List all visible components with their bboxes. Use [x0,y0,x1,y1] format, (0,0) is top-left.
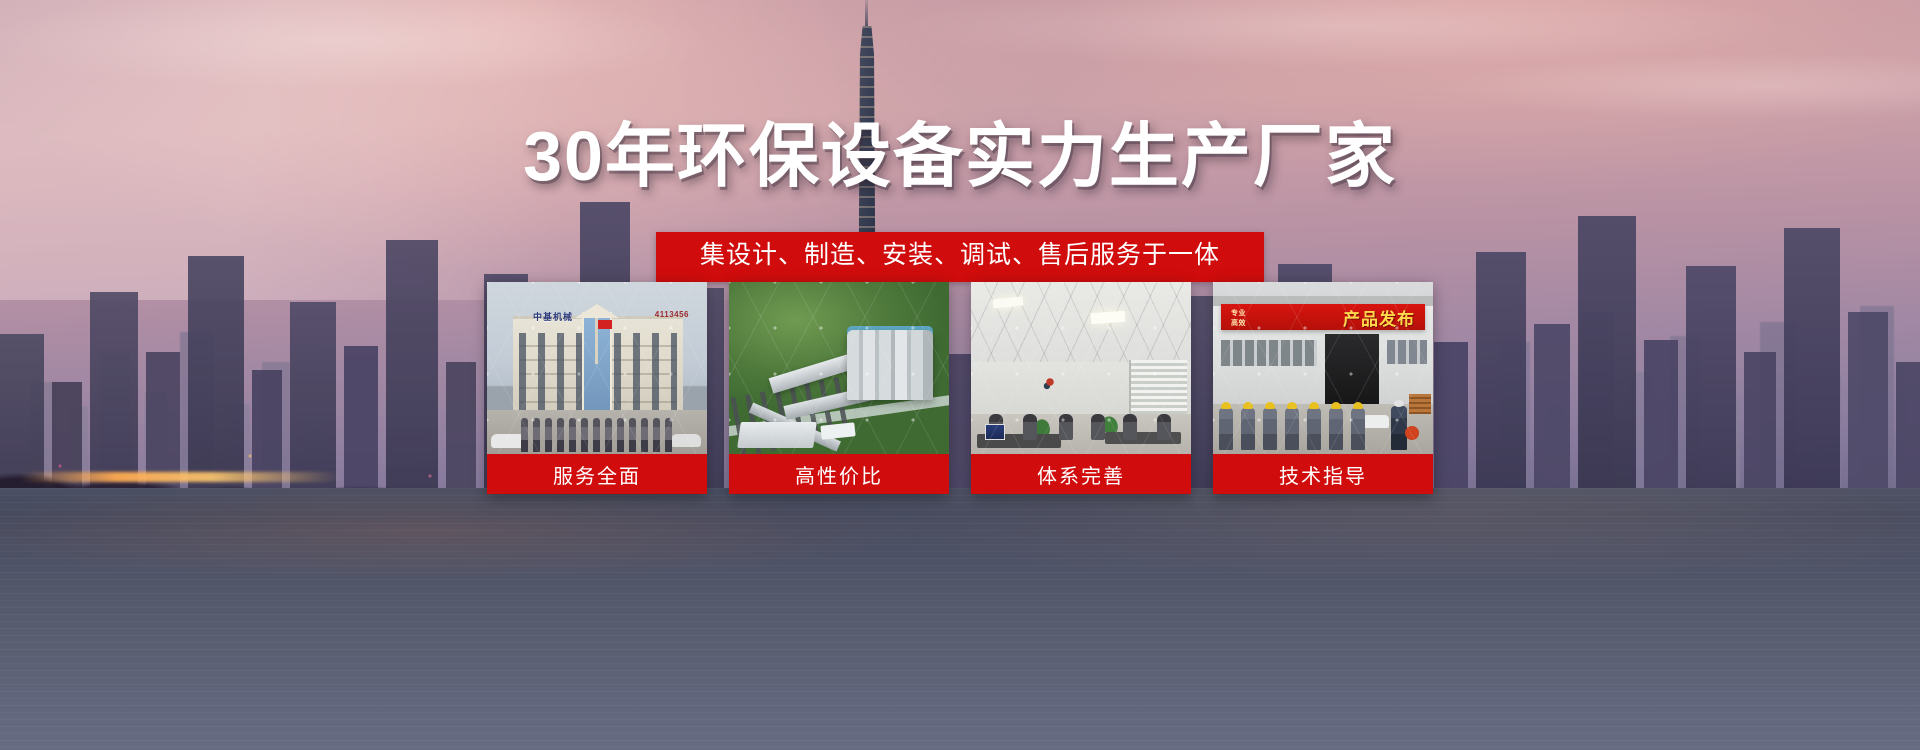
feature-card-system[interactable]: 体系完善 [971,282,1191,494]
feature-card-guidance[interactable]: 专业 高效 产品发布 [1213,282,1433,494]
card-caption-service: 服务全面 [487,454,707,494]
building-phone-label: 4113456 [655,310,689,319]
subtitle-wrapper: 集设计、制造、安装、调试、售后服务于一体 [0,232,1920,282]
page-title: 30年环保设备实力生产厂家 [0,100,1920,201]
feature-card-service[interactable]: 中基机械 4113456 服务全面 [487,282,707,494]
feature-card-row: 中基机械 4113456 服务全面 [487,282,1433,494]
hero-banner: 30年环保设备实力生产厂家 集设计、制造、安装、调试、售后服务于一体 中基机械 … [0,0,1920,750]
card-caption-value: 高性价比 [729,454,949,494]
office-interior-team-photo [971,282,1191,454]
card-caption-guidance: 技术指导 [1213,454,1433,494]
workshop-workers [1219,400,1369,450]
factory-workshop-staff-photo: 专业 高效 产品发布 [1213,282,1433,454]
banner-main-text: 产品发布 [1343,305,1415,330]
company-office-building-photo: 中基机械 4113456 [487,282,707,454]
banner-left-text-2: 高效 [1231,318,1246,328]
card-caption-system: 体系完善 [971,454,1191,494]
workshop-red-banner: 专业 高效 产品发布 [1221,304,1425,330]
subtitle-badge: 集设计、制造、安装、调试、售后服务于一体 [656,232,1264,282]
aerial-production-plant-photo [729,282,949,454]
staff-lineup [521,412,677,452]
building-signage-label: 中基机械 [533,310,573,323]
feature-card-value[interactable]: 高性价比 [729,282,949,494]
banner-left-text-1: 专业 [1231,308,1246,318]
